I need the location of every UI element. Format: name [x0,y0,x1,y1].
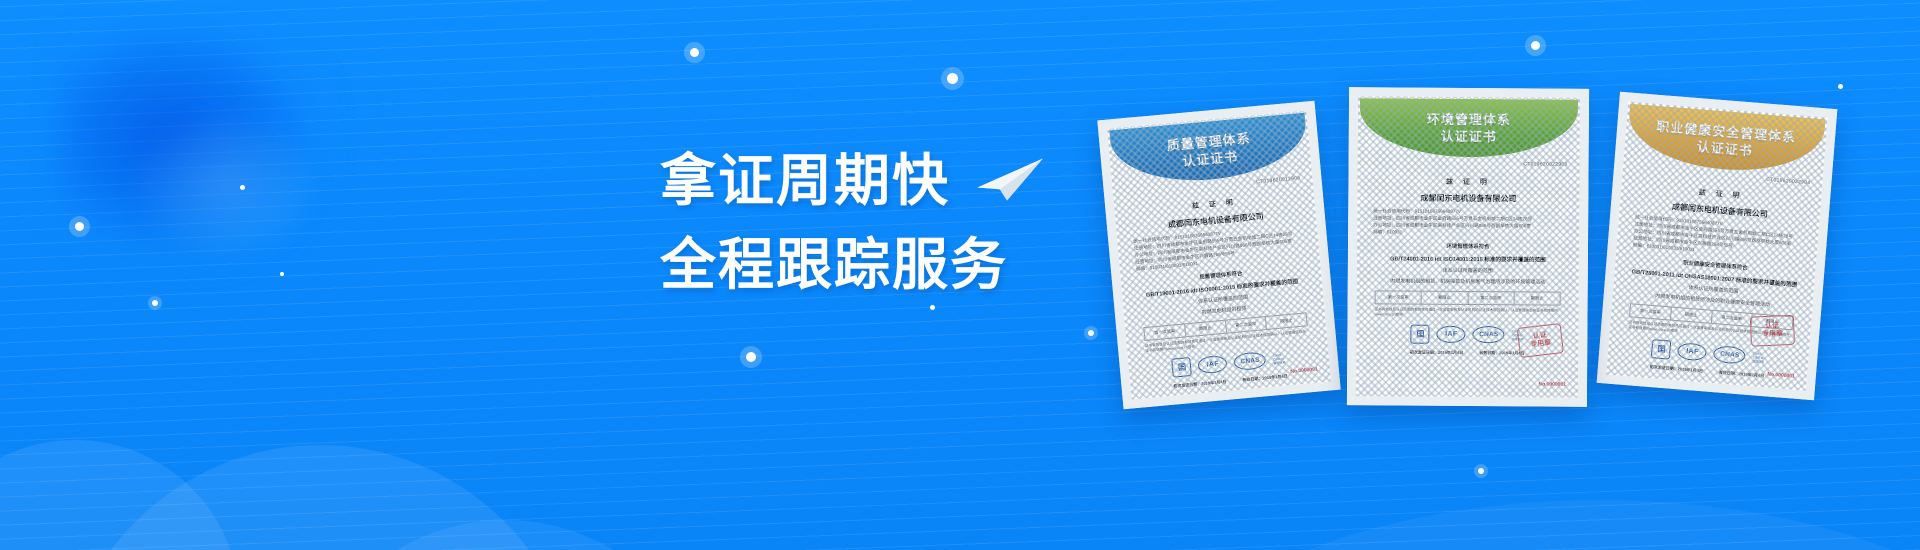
cnas-logo-caption: CNASC000-M管理体系 [1273,352,1286,365]
cert-title: 兹 证 明 [1369,176,1567,187]
cert-standard: GB/T24001-2016 idt ISO14001:2015 标准的要求并覆… [1369,254,1567,263]
certificate-group: 质量管理体系 认证证书 CT019620012906 兹 证 明 成都闰东电机设… [1110,48,1870,468]
background-arc-4 [1150,500,1920,550]
cert-note: 证书有效性及认证范围的有效性可通过一次监督审核及认证机构的认证技术规范确认，认证… [1369,304,1567,318]
decor-dot-12 [1478,468,1484,474]
certificate-environment[interactable]: 环境管理体系 认证证书 CT019620022905 兹 证 明 成都闰东电机设… [1347,87,1589,407]
certificate-occupational-health[interactable]: 职业健康安全管理体系 认证证书 CT019620032904 兹 证 明 成都闰… [1597,92,1838,401]
iaf-logo-icon: IAF [1677,342,1707,361]
decor-dot-1 [240,185,245,190]
cnas-logo-icon: CNAS [1473,326,1505,343]
cert-scope-label: 体系认证所覆盖的范围 [1369,266,1567,274]
decor-dot-2 [75,222,84,231]
red-seal-stamp-icon: 认证专用章 [1517,323,1564,358]
certificate-header-environment: 环境管理体系 认证证书 [1360,98,1578,158]
headline: 拿证周期快 全程跟踪服务 [660,140,1140,308]
cnca-logo-icon: 囯 [1172,357,1193,378]
certificate-number-environment: CT019620022905 [1523,161,1567,167]
decor-dot-9 [1088,330,1094,336]
cnca-logo-icon: 囯 [1411,325,1430,344]
cert-company: 成都闰东电机设备有限公司 [1369,192,1567,204]
cert-audit-table: 第一次监审 期限止 第二次监审 期限止 [1375,290,1561,305]
certificate-quality[interactable]: 质量管理体系 认证证书 CT019620012906 兹 证 明 成都闰东电机设… [1097,101,1340,410]
decor-dot-7 [746,352,756,362]
paper-plane-icon [973,156,1049,205]
cert-address-3: 邮编：610931 [1369,228,1567,236]
cert-footer-number: No.0000001 [1538,381,1566,387]
certificate-number-quality: CT019620012906 [1256,175,1301,185]
red-seal-stamp-icon: 认证专用章 [1750,315,1795,347]
certificate-number-occupational: CT019620032904 [1766,177,1811,187]
decor-dot-3 [152,300,158,306]
decor-dot-5 [690,48,699,57]
headline-line-2: 全程跟踪服务 [660,224,1140,308]
decor-dot-4 [280,272,284,276]
cnca-logo-icon: 囯 [1651,339,1671,359]
certificate-header-occupational: 职业健康安全管理体系 认证证书 [1625,104,1825,178]
cert-scope-detail: 内燃发电机组的租赁、机房噪音及机房尾气治理所涉及的环境管理活动 [1369,277,1567,285]
cnas-logo-icon: CNAS [1234,351,1267,371]
background-glow-left-secondary [130,110,320,260]
cnas-logo-icon: CNAS [1713,345,1746,365]
promo-banner: 拿证周期快 全程跟踪服务 质量管理体系 认证证书 CT019620012906 … [0,0,1920,550]
iaf-logo-icon: IAF [1437,326,1466,343]
iaf-logo-icon: IAF [1198,355,1228,375]
cnas-logo-caption: CNASC000-M管理体系 [1752,351,1765,364]
headline-line-1: 拿证周期快 [660,140,1140,224]
cert-system-label: 环境管理体系符合 [1369,241,1567,250]
decor-dot-6 [947,73,958,84]
